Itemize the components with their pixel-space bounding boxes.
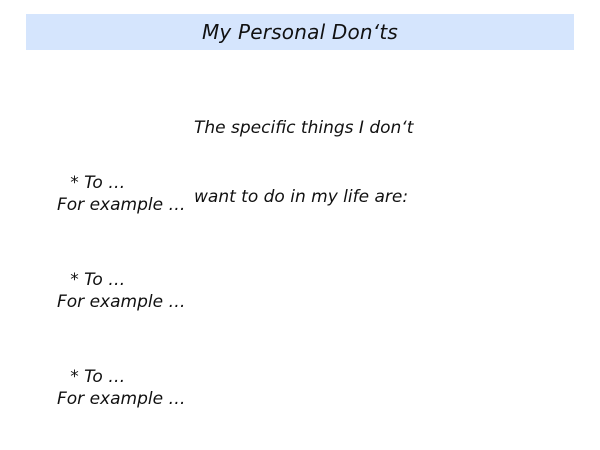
example-line: For example … xyxy=(57,291,185,313)
to-label: To … xyxy=(79,269,126,291)
list-item: * To … For example … xyxy=(0,247,600,344)
bullet-asterisk-icon: * xyxy=(70,172,79,194)
slide-canvas: My Personal Don‘ts The specific things I… xyxy=(0,0,600,450)
page-title: My Personal Don‘ts xyxy=(202,22,398,42)
bullet-asterisk-icon: * xyxy=(70,366,79,388)
body-list: * To … For example … * To … For example … xyxy=(0,150,600,441)
example-line: For example … xyxy=(57,194,185,216)
list-item: * To … For example … xyxy=(0,150,600,247)
list-item: * To … For example … xyxy=(0,344,600,441)
to-label: To … xyxy=(79,366,126,388)
to-label: To … xyxy=(79,172,126,194)
title-banner: My Personal Don‘ts xyxy=(26,14,574,50)
example-line: For example … xyxy=(57,388,185,410)
subtitle-line-1: The specific things I don‘t xyxy=(194,117,413,140)
bullet-asterisk-icon: * xyxy=(70,269,79,291)
